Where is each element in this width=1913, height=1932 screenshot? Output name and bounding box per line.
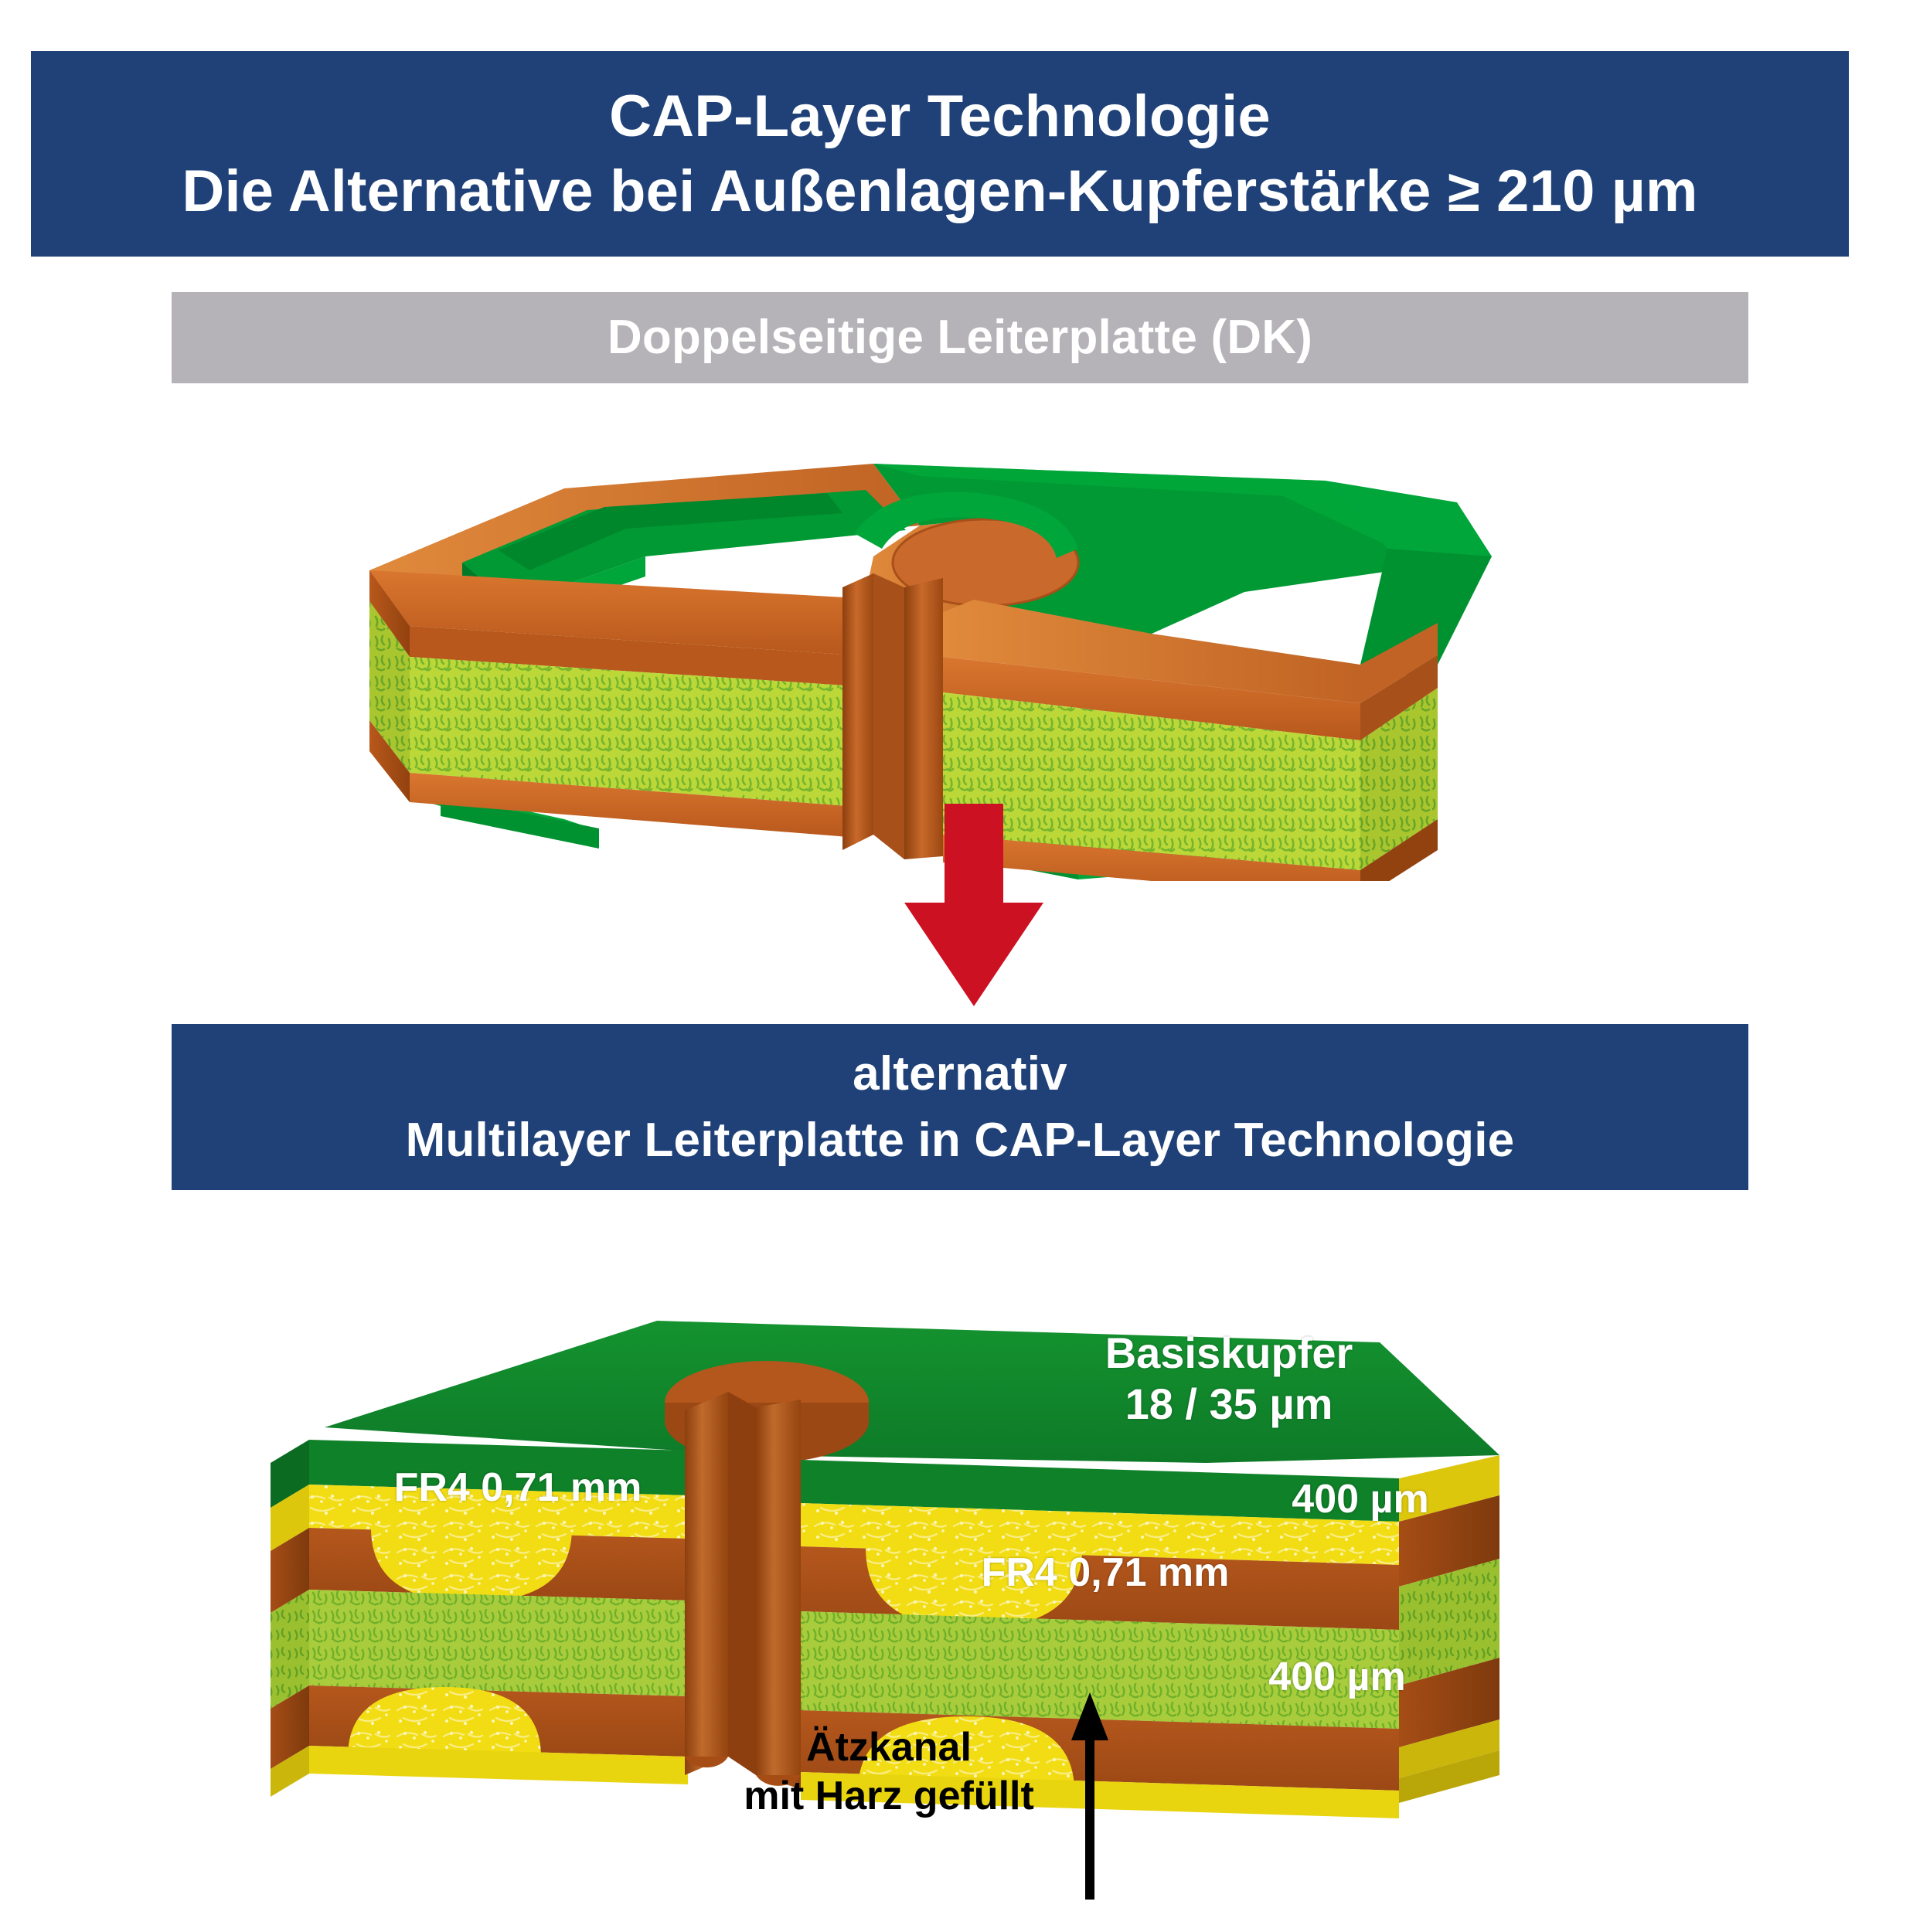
label-copper-thickness-top: 400 µm (1252, 1476, 1469, 1523)
alt-line-1: alternativ (853, 1047, 1067, 1100)
alternative-banner: alternativ Multilayer Leiterplatte in CA… (172, 1024, 1748, 1190)
arrow-down-icon (904, 804, 1043, 1006)
etch-channel-caption: Ätzkanal mit Harz gefüllt (719, 1723, 1059, 1821)
label-basiskupfer-value: 18 / 35 µm (1067, 1379, 1391, 1430)
etch-channel-arrow (1067, 1692, 1113, 1901)
label-basiskupfer: Basiskupfer 18 / 35 µm (1067, 1328, 1391, 1430)
label-basiskupfer-name: Basiskupfer (1067, 1328, 1391, 1379)
label-copper-thickness-bottom: 400 µm (1229, 1654, 1445, 1701)
alt-line-2: Multilayer Leiterplatte in CAP-Layer Tec… (406, 1114, 1515, 1167)
transition-arrow (889, 804, 1059, 1009)
subtitle-text: Doppelseitige Leiterplatte (DK) (608, 311, 1312, 364)
title-line-2: Die Alternative bei Außenlagen-Kupferstä… (182, 158, 1697, 224)
title-line-1: CAP-Layer Technologie (609, 83, 1271, 149)
label-fr4-left: FR4 0,71 mm (363, 1464, 672, 1512)
subtitle-banner: Doppelseitige Leiterplatte (DK) (172, 292, 1748, 383)
via-barrel-left (685, 1392, 728, 1775)
left-fr4-1 (309, 1590, 688, 1696)
via-barrel-left (842, 573, 873, 850)
title-banner: CAP-Layer Technologie Die Alternative be… (31, 51, 1849, 257)
label-fr4-right: FR4 0,71 mm (951, 1549, 1260, 1597)
arrow-up-icon (1071, 1692, 1108, 1900)
etch-caption-line-1: Ätzkanal (719, 1723, 1059, 1772)
etch-caption-line-2: mit Harz gefüllt (719, 1772, 1059, 1821)
